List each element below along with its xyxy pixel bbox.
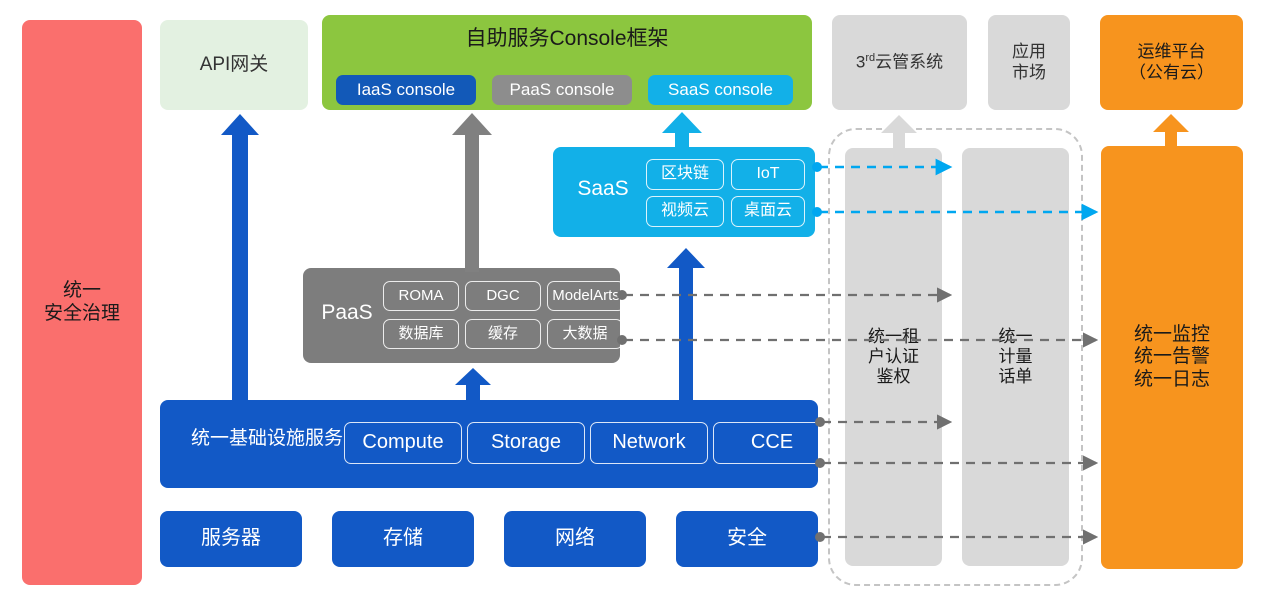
architecture-diagram: 统一 安全治理 API网关 自助服务Console框架 IaaS console… — [0, 0, 1265, 605]
ops-platform-box: 运维平台 （公有云） — [1100, 15, 1243, 110]
saas-chip-blockchain-label: 区块链 — [661, 165, 709, 184]
infra-chip-network-label: Network — [612, 431, 685, 455]
arrow-saas-to-console — [662, 112, 702, 152]
third-party-label: 3rd云管系统 — [856, 52, 943, 73]
paas-chip-modelarts[interactable]: ModelArts — [547, 281, 625, 311]
arrow-monitor-to-ops-platform — [1153, 114, 1189, 146]
monitor-line1: 统一监控 — [1134, 324, 1210, 346]
monitor-line3: 统一日志 — [1134, 369, 1210, 391]
unified-tenant-auth-column: 统一租 户认证 鉴权 — [845, 148, 942, 566]
app-market-box: 应用 市场 — [988, 15, 1070, 110]
infra-chip-storage-label: Storage — [491, 431, 561, 455]
resource-box-storage-label: 存储 — [383, 527, 423, 551]
app-market-line1: 应用 — [1012, 42, 1046, 62]
arrow-infra-to-paas — [455, 368, 491, 400]
monitor-line2: 统一告警 — [1134, 346, 1210, 368]
unified-infrastructure-bar: 统一基础设施服务 Compute Storage Network CCE — [160, 400, 818, 488]
saas-chip-desktop-cloud-label: 桌面云 — [744, 202, 792, 221]
saas-chip-iot[interactable]: IoT — [731, 159, 805, 190]
infra-chip-compute[interactable]: Compute — [344, 422, 462, 464]
infra-chip-network[interactable]: Network — [590, 422, 708, 464]
unified-security-line2: 安全治理 — [44, 303, 120, 325]
app-market-line2: 市场 — [1012, 63, 1046, 83]
auth-line2: 户认证 — [868, 347, 919, 367]
paas-console-label: PaaS console — [510, 80, 615, 100]
resource-box-network[interactable]: 网络 — [504, 511, 646, 567]
resource-box-server[interactable]: 服务器 — [160, 511, 302, 567]
saas-console-chip[interactable]: SaaS console — [648, 75, 793, 105]
ops-platform-line2: （公有云） — [1129, 63, 1214, 83]
saas-chip-video-cloud-label: 视频云 — [661, 202, 709, 221]
saas-chip-video-cloud[interactable]: 视频云 — [646, 196, 724, 227]
unified-security-line1: 统一 — [63, 280, 101, 302]
auth-line1: 统一租 — [868, 327, 919, 347]
billing-line1: 统一 — [999, 327, 1033, 347]
paas-chip-roma-label: ROMA — [399, 287, 444, 305]
unified-security-governance-panel: 统一 安全治理 — [22, 20, 142, 585]
saas-box: SaaS 区块链 IoT 视频云 桌面云 — [553, 147, 815, 237]
paas-console-chip[interactable]: PaaS console — [492, 75, 632, 105]
resource-box-security[interactable]: 安全 — [676, 511, 818, 567]
paas-chip-database-label: 数据库 — [398, 325, 443, 343]
infra-chip-cce-label: CCE — [751, 431, 793, 455]
infra-chip-compute-label: Compute — [362, 431, 443, 455]
api-gateway-box: API网关 — [160, 20, 308, 110]
console-title: 自助服务Console框架 — [322, 27, 812, 52]
paas-chip-roma[interactable]: ROMA — [383, 281, 459, 311]
billing-line3: 话单 — [999, 367, 1033, 387]
infra-chip-cce[interactable]: CCE — [713, 422, 831, 464]
api-gateway-label: API网关 — [200, 54, 269, 76]
infra-chip-storage[interactable]: Storage — [467, 422, 585, 464]
paas-chip-bigdata-label: 大数据 — [562, 325, 607, 343]
paas-chip-dgc-label: DGC — [486, 287, 519, 305]
billing-line2: 计量 — [999, 347, 1033, 367]
paas-chip-bigdata[interactable]: 大数据 — [547, 319, 623, 349]
unified-monitoring-panel: 统一监控 统一告警 统一日志 — [1101, 146, 1243, 569]
resource-box-storage[interactable]: 存储 — [332, 511, 474, 567]
paas-chip-database[interactable]: 数据库 — [383, 319, 459, 349]
saas-console-label: SaaS console — [668, 80, 773, 100]
auth-line3: 鉴权 — [877, 367, 911, 387]
infra-title: 统一基础设施服务 — [178, 428, 356, 450]
saas-chip-blockchain[interactable]: 区块链 — [646, 159, 724, 190]
paas-chip-cache-label: 缓存 — [488, 325, 518, 343]
paas-box: PaaS ROMA DGC ModelArts 数据库 缓存 大数据 — [303, 268, 620, 363]
paas-title: PaaS — [311, 301, 383, 326]
arrow-paas-to-console — [452, 113, 492, 272]
resource-box-security-label: 安全 — [727, 527, 767, 551]
paas-chip-modelarts-label: ModelArts — [552, 287, 620, 305]
third-party-cloud-mgmt-box: 3rd云管系统 — [832, 15, 967, 110]
arrow-infra-to-saas — [667, 248, 705, 400]
saas-title: SaaS — [563, 177, 643, 202]
saas-chip-iot-label: IoT — [756, 165, 779, 184]
iaas-console-label: IaaS console — [357, 80, 455, 100]
paas-chip-cache[interactable]: 缓存 — [465, 319, 541, 349]
resource-box-server-label: 服务器 — [201, 527, 261, 551]
unified-billing-column: 统一 计量 话单 — [962, 148, 1069, 566]
iaas-console-chip[interactable]: IaaS console — [336, 75, 476, 105]
resource-box-network-label: 网络 — [555, 527, 595, 551]
paas-chip-dgc[interactable]: DGC — [465, 281, 541, 311]
self-service-console-frame: 自助服务Console框架 IaaS console PaaS console … — [322, 15, 812, 110]
arrow-infra-to-api-gateway — [221, 114, 259, 400]
ops-platform-line1: 运维平台 — [1138, 42, 1206, 62]
saas-chip-desktop-cloud[interactable]: 桌面云 — [731, 196, 805, 227]
